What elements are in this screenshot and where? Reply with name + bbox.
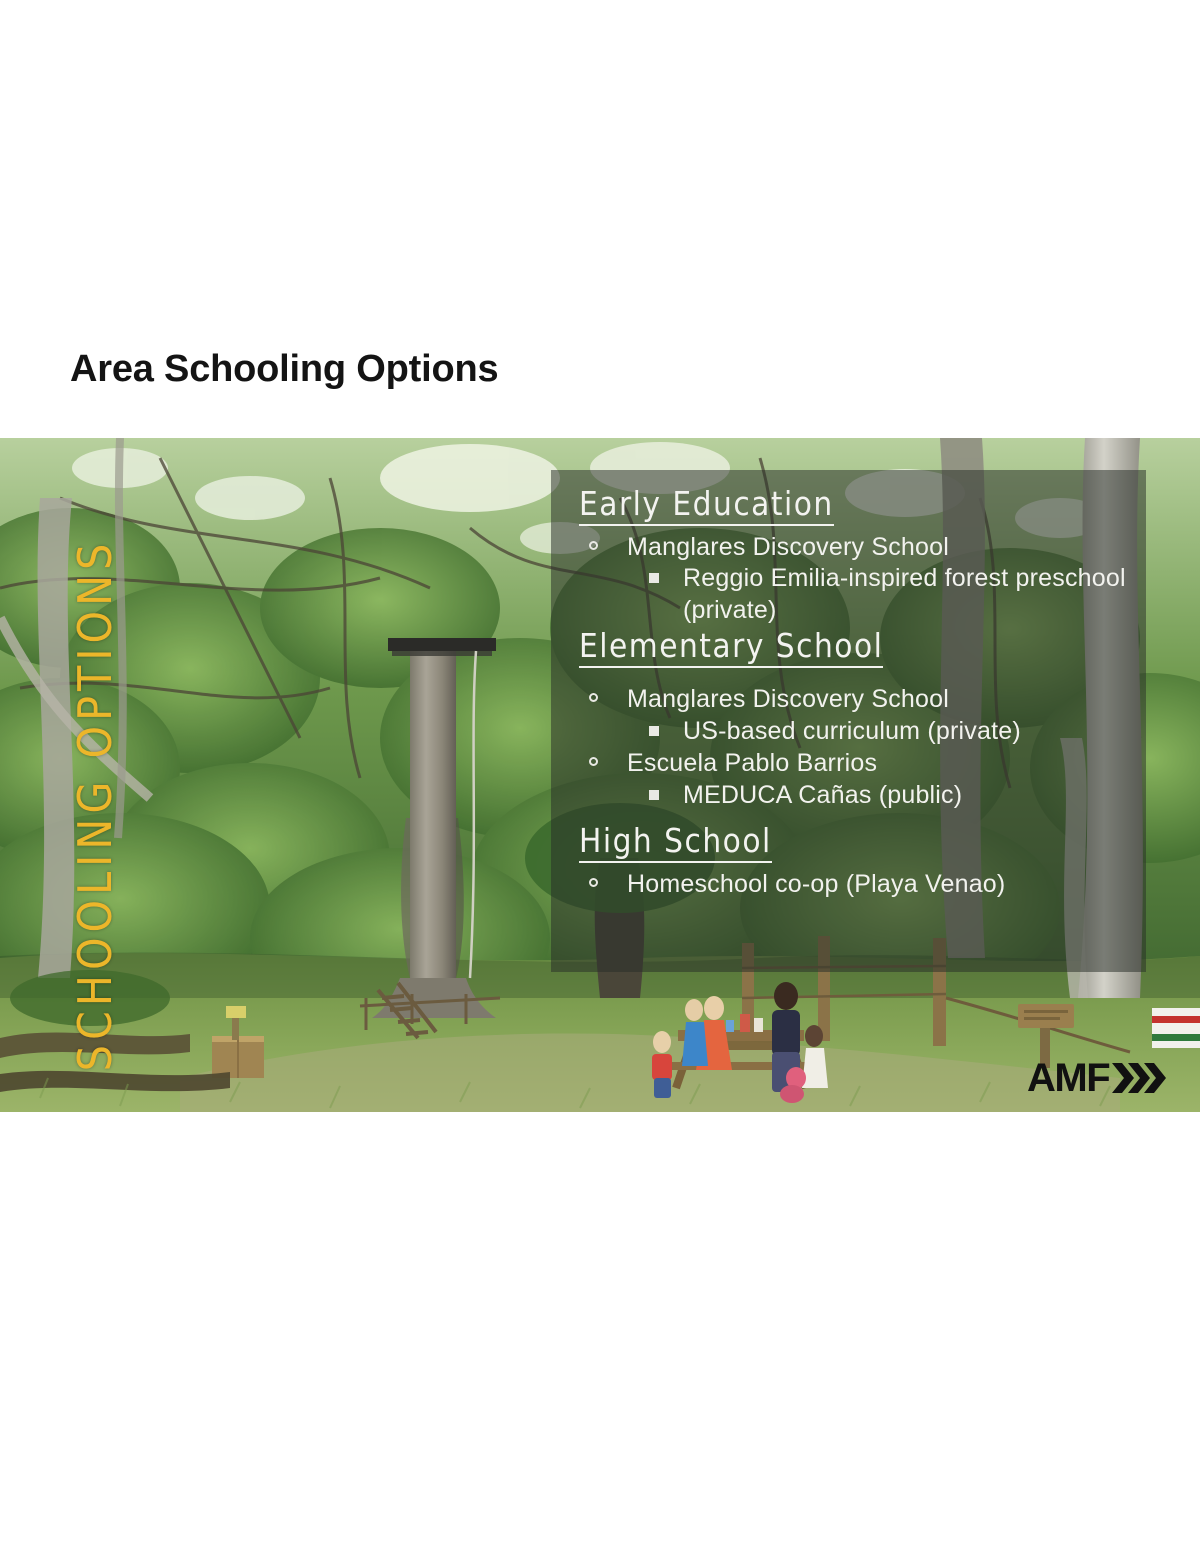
section-high-school: High School Homeschool co-op (Playa Vena… xyxy=(579,813,1126,900)
section-heading: Early Education xyxy=(579,486,834,526)
section-heading: High School xyxy=(579,823,772,863)
square-filled-bullet-icon xyxy=(649,573,659,583)
list-item-label: Manglares Discovery School xyxy=(627,533,949,561)
circle-outline-bullet-icon xyxy=(589,541,598,550)
amf-logo: AMF xyxy=(1027,1058,1167,1098)
list-item-label: Escuela Pablo Barrios xyxy=(627,749,877,777)
list-item: MEDUCA Cañas (public) xyxy=(683,780,1126,812)
section-list: Manglares Discovery School Reggio Emilia… xyxy=(579,532,1126,627)
vertical-section-label: SCHOOLING OPTIONS xyxy=(68,495,122,1112)
slide-photo: SCHOOLING OPTIONS Early Education Mangla… xyxy=(0,438,1200,1112)
square-filled-bullet-icon xyxy=(649,726,659,736)
page-title: Area Schooling Options xyxy=(70,348,498,391)
spacer xyxy=(579,668,1126,678)
list-item-label: MEDUCA Cañas (public) xyxy=(683,781,962,809)
list-item-label: Reggio Emilia-inspired forest preschool … xyxy=(683,564,1126,624)
amf-logo-wordmark: AMF xyxy=(1027,1058,1109,1098)
list-item: Manglares Discovery School Reggio Emilia… xyxy=(627,532,1126,627)
chevron-right-icon xyxy=(1111,1061,1167,1095)
list-item: Reggio Emilia-inspired forest preschool … xyxy=(683,563,1126,626)
list-item: Homeschool co-op (Playa Venao) xyxy=(627,869,1126,901)
sub-list: US-based curriculum (private) xyxy=(627,716,1126,748)
schooling-options-panel: Early Education Manglares Discovery Scho… xyxy=(551,470,1146,972)
section-early-education: Early Education Manglares Discovery Scho… xyxy=(579,486,1126,626)
section-list: Manglares Discovery School US-based curr… xyxy=(579,684,1126,811)
list-item-label: US-based curriculum (private) xyxy=(683,717,1021,745)
section-elementary-school: Elementary School Manglares Discovery Sc… xyxy=(579,628,1126,811)
sub-list: MEDUCA Cañas (public) xyxy=(627,780,1126,812)
list-item-label: Homeschool co-op (Playa Venao) xyxy=(627,870,1005,898)
section-heading: Elementary School xyxy=(579,628,883,668)
circle-outline-bullet-icon xyxy=(589,693,598,702)
circle-outline-bullet-icon xyxy=(589,878,598,887)
list-item: Escuela Pablo Barrios MEDUCA Cañas (publ… xyxy=(627,748,1126,811)
section-list: Homeschool co-op (Playa Venao) xyxy=(579,869,1126,901)
list-item: Manglares Discovery School US-based curr… xyxy=(627,684,1126,747)
circle-outline-bullet-icon xyxy=(589,757,598,766)
amf-logo-chevrons xyxy=(1111,1061,1167,1095)
square-filled-bullet-icon xyxy=(649,790,659,800)
sub-list: Reggio Emilia-inspired forest preschool … xyxy=(627,563,1126,626)
list-item: US-based curriculum (private) xyxy=(683,716,1126,748)
list-item-label: Manglares Discovery School xyxy=(627,685,949,713)
